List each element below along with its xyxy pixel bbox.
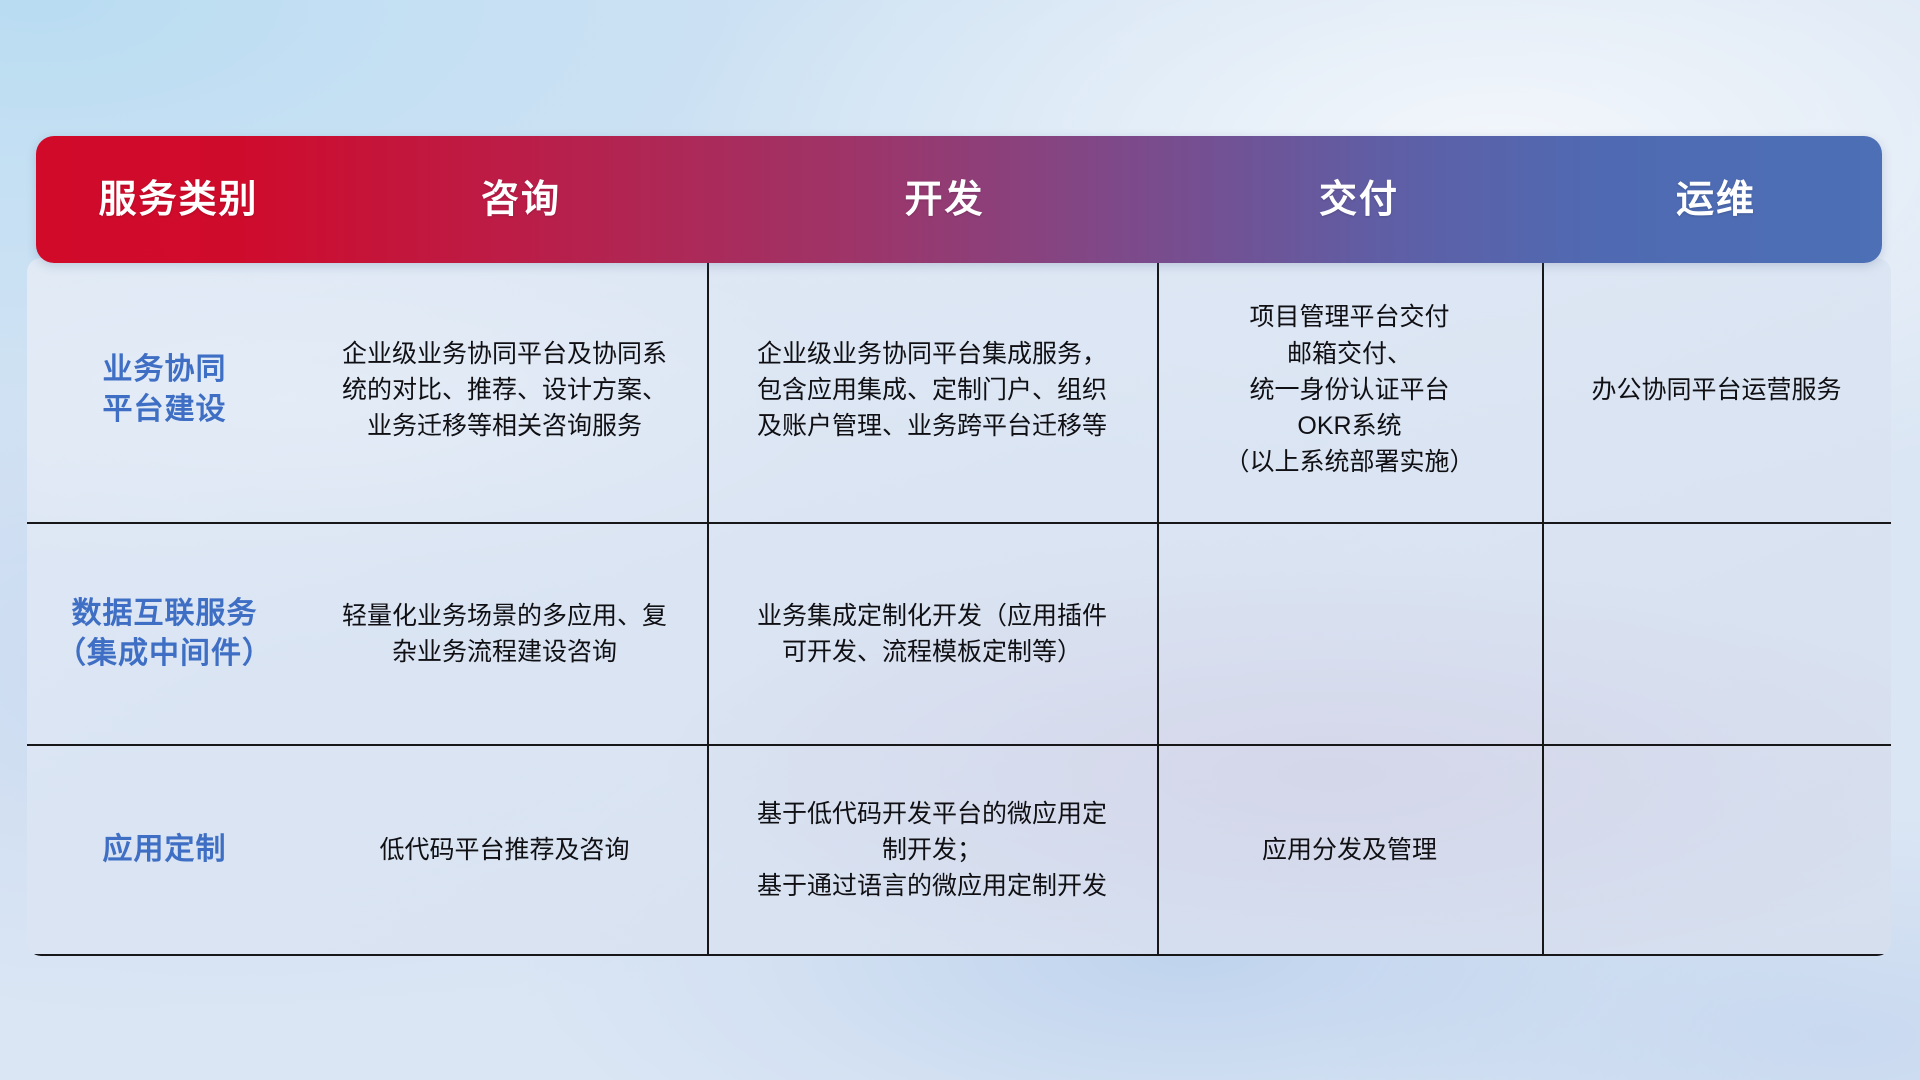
cell-consulting: 企业级业务协同平台及协同系 统的对比、推荐、设计方案、 业务迁移等相关咨询服务 <box>302 336 707 445</box>
cell-development: 基于低代码开发平台的微应用定 制开发； 基于通过语言的微应用定制开发 <box>707 796 1157 905</box>
row-label-business-collaboration: 业务协同 平台建设 <box>27 350 302 430</box>
column-header-delivery[interactable]: 交付 <box>1168 181 1550 219</box>
table-header-bar: 服务类别 咨询 开发 交付 运维 <box>36 136 1882 263</box>
cell-development: 业务集成定制化开发（应用插件 可开发、流程模板定制等） <box>707 598 1157 671</box>
table-row[interactable]: 业务协同 平台建设 企业级业务协同平台及协同系 统的对比、推荐、设计方案、 业务… <box>27 258 1891 522</box>
row-divider-1 <box>27 522 1891 524</box>
row-divider-2 <box>27 744 1891 746</box>
table-row[interactable]: 应用定制 低代码平台推荐及咨询 基于低代码开发平台的微应用定 制开发； 基于通过… <box>27 746 1891 954</box>
column-divider-development-delivery <box>1157 258 1159 956</box>
row-label-data-integration: 数据互联服务 （集成中间件） <box>27 594 302 674</box>
cell-operations: 办公协同平台运营服务 <box>1542 372 1891 408</box>
column-header-development[interactable]: 开发 <box>721 181 1168 219</box>
table-body-surface: 业务协同 平台建设 企业级业务协同平台及协同系 统的对比、推荐、设计方案、 业务… <box>27 258 1891 956</box>
column-divider-delivery-operations <box>1542 258 1544 956</box>
column-header-consulting[interactable]: 咨询 <box>321 181 721 219</box>
cell-development: 企业级业务协同平台集成服务， 包含应用集成、定制门户、组织 及账户管理、业务跨平… <box>707 336 1157 445</box>
cell-consulting: 低代码平台推荐及咨询 <box>302 832 707 868</box>
table-row[interactable]: 数据互联服务 （集成中间件） 轻量化业务场景的多应用、复 杂业务流程建设咨询 业… <box>27 524 1891 744</box>
column-header-operations[interactable]: 运维 <box>1550 181 1882 219</box>
column-divider-consulting-development <box>707 258 709 956</box>
table-bottom-border <box>27 954 1891 956</box>
row-label-app-customization: 应用定制 <box>27 830 302 870</box>
cell-delivery: 应用分发及管理 <box>1157 832 1542 868</box>
column-header-category[interactable]: 服务类别 <box>36 181 321 219</box>
cell-delivery: 项目管理平台交付 邮箱交付、 统一身份认证平台 OKR系统 （以上系统部署实施） <box>1157 299 1542 480</box>
cell-consulting: 轻量化业务场景的多应用、复 杂业务流程建设咨询 <box>302 598 707 671</box>
service-matrix-table: 业务协同 平台建设 企业级业务协同平台及协同系 统的对比、推荐、设计方案、 业务… <box>27 136 1891 956</box>
